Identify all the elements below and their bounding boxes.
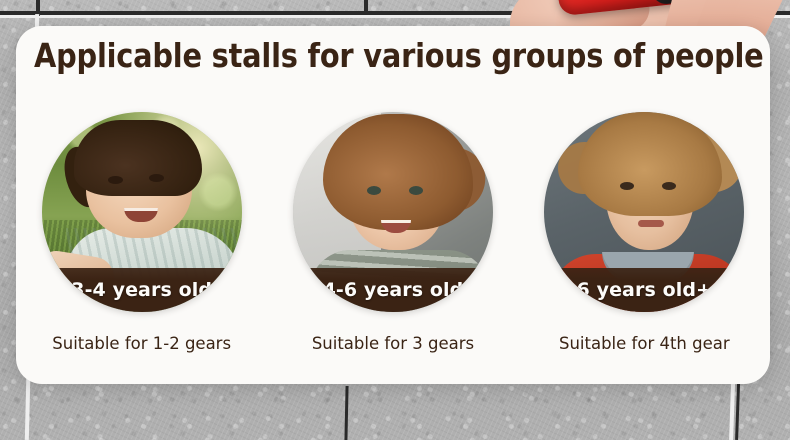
child-2-eye-right <box>409 186 423 195</box>
group-caption-2: Suitable for 3 gears <box>312 334 474 353</box>
child-3-mouth <box>638 220 664 227</box>
child-1-eye-right <box>149 174 164 182</box>
group-caption-3: Suitable for 4th gear <box>559 334 730 353</box>
group-caption-1: Suitable for 1-2 gears <box>52 334 231 353</box>
age-badge-label-1: 3-4 years old <box>71 279 212 301</box>
age-badge-band-2: 4-6 years old <box>293 268 493 312</box>
child-2-eye-left <box>367 186 381 195</box>
age-badge-label-2: 4-6 years old <box>323 279 464 301</box>
child-1-eye-left <box>108 176 123 184</box>
screenshot-root: Applicable stalls for various groups of … <box>0 0 790 440</box>
age-group-columns: 3-4 years old Suitable for 1-2 gears <box>16 112 770 370</box>
child-1-hair <box>74 120 202 196</box>
age-badge-band-1: 3-4 years old <box>42 268 242 312</box>
grout-line-vertical-mid <box>364 0 368 14</box>
group-photo-circle-2: 4-6 years old <box>293 112 493 312</box>
child-3-hair <box>578 112 722 216</box>
group-photo-circle-1: 3-4 years old <box>42 112 242 312</box>
age-group-column-2: 4-6 years old Suitable for 3 gears <box>267 112 518 370</box>
group-photo-circle-3: 6 years old+ <box>544 112 744 312</box>
age-group-column-3: 6 years old+ Suitable for 4th gear <box>519 112 770 370</box>
age-badge-band-3: 6 years old+ <box>544 268 744 312</box>
age-badge-label-3: 6 years old+ <box>577 279 713 301</box>
page-title: Applicable stalls for various groups of … <box>34 36 738 75</box>
child-2-hair <box>323 114 473 230</box>
age-group-column-1: 3-4 years old Suitable for 1-2 gears <box>16 112 267 370</box>
